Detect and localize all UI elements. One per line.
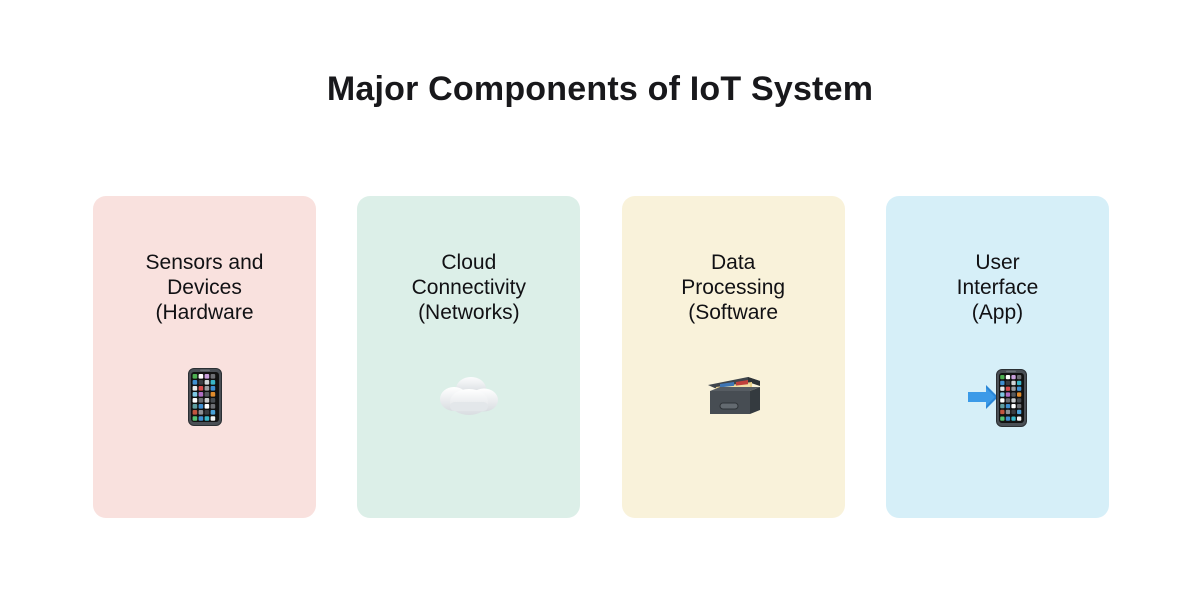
component-card-title: Sensors and Devices (Hardware (105, 250, 305, 325)
cloud-glyph (438, 372, 500, 434)
slide-canvas: Major Components of IoT System Sensors a… (0, 0, 1200, 592)
mobile-phone-with-arrow-glyph (966, 368, 1028, 443)
component-card-title: User Interface (App) (897, 250, 1097, 325)
mobile-phone-with-arrow-icon (886, 368, 1109, 443)
component-card-title: Cloud Connectivity (Networks) (369, 250, 569, 325)
card-file-box-glyph (702, 369, 764, 436)
component-card-data-processing[interactable]: Data Processing (Software (622, 196, 845, 518)
mobile-phone-icon (93, 368, 316, 441)
card-file-box-icon (622, 368, 845, 436)
page-title: Major Components of IoT System (0, 68, 1200, 110)
component-card-cloud-connectivity[interactable]: Cloud Connectivity (Networks) (357, 196, 580, 518)
components-row: Sensors and Devices (Hardware (93, 196, 1109, 518)
component-card-sensors-and-devices[interactable]: Sensors and Devices (Hardware (93, 196, 316, 518)
component-card-user-interface[interactable]: User Interface (App) (886, 196, 1109, 518)
component-card-title: Data Processing (Software (633, 250, 833, 325)
mobile-phone-glyph (188, 368, 222, 441)
cloud-icon (357, 368, 580, 434)
